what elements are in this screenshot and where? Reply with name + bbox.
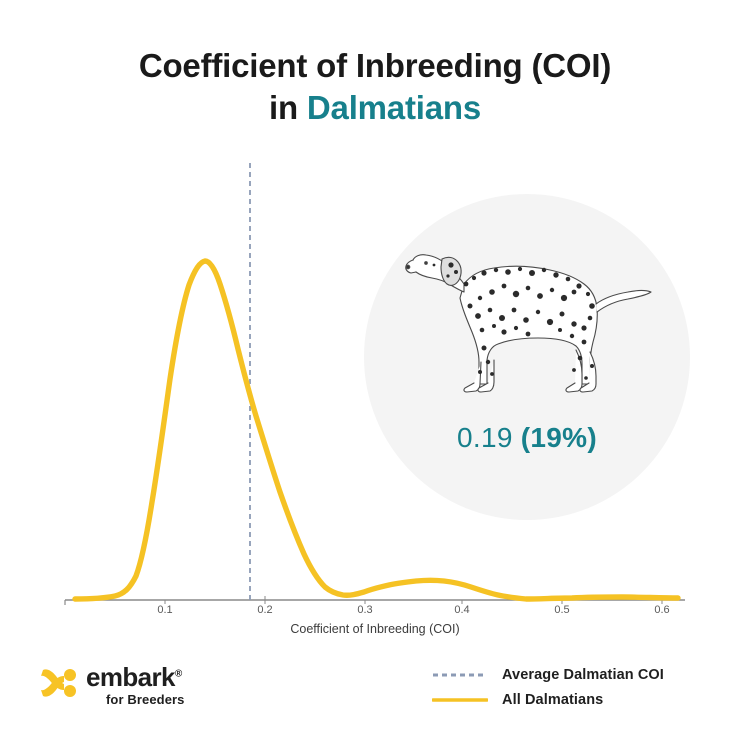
xtick-label-4: 0.5 — [542, 604, 582, 616]
dalmatian-illustration — [404, 232, 654, 407]
coi-value-number: 0.19 — [457, 422, 513, 453]
legend-item-all[interactable]: All Dalmatians — [432, 687, 732, 712]
embark-wordmark: embark® — [86, 662, 182, 693]
embark-subtitle: for Breeders — [106, 692, 185, 707]
coi-value-label: 0.19 (19%) — [364, 422, 690, 454]
legend-item-average[interactable]: Average Dalmatian COI — [432, 662, 732, 687]
xtick-label-3: 0.4 — [442, 604, 482, 616]
registered-mark-icon: ® — [175, 668, 182, 679]
embark-paw-mark-icon — [40, 666, 86, 700]
breed-callout-circle: 0.19 (19%) — [364, 194, 690, 520]
title-prefix: in — [269, 89, 307, 126]
legend-swatch-dashed-icon — [432, 668, 488, 682]
x-axis-title: Coefficient of Inbreeding (COI) — [0, 622, 750, 636]
xtick-label-1: 0.2 — [245, 604, 285, 616]
legend-label-all: All Dalmatians — [502, 692, 603, 708]
legend-label-average: Average Dalmatian COI — [502, 667, 664, 683]
page-title: Coefficient of Inbreeding (COI) in Dalma… — [0, 46, 750, 129]
embark-logo[interactable]: embark® for Breeders — [40, 662, 260, 718]
xtick-label-5: 0.6 — [642, 604, 682, 616]
title-line-1: Coefficient of Inbreeding (COI) — [0, 46, 750, 86]
coi-value-percent: (19%) — [521, 422, 597, 453]
embark-word-text: embark — [86, 662, 175, 692]
chart-page: Coefficient of Inbreeding (COI) in Dalma… — [0, 0, 750, 750]
xtick-label-2: 0.3 — [345, 604, 385, 616]
legend-swatch-solid-icon — [432, 693, 488, 707]
title-breed-accent: Dalmatians — [307, 89, 481, 126]
xtick-label-0: 0.1 — [145, 604, 185, 616]
title-line-2: in Dalmatians — [0, 88, 750, 128]
chart-legend: Average Dalmatian COI All Dalmatians — [432, 662, 732, 712]
